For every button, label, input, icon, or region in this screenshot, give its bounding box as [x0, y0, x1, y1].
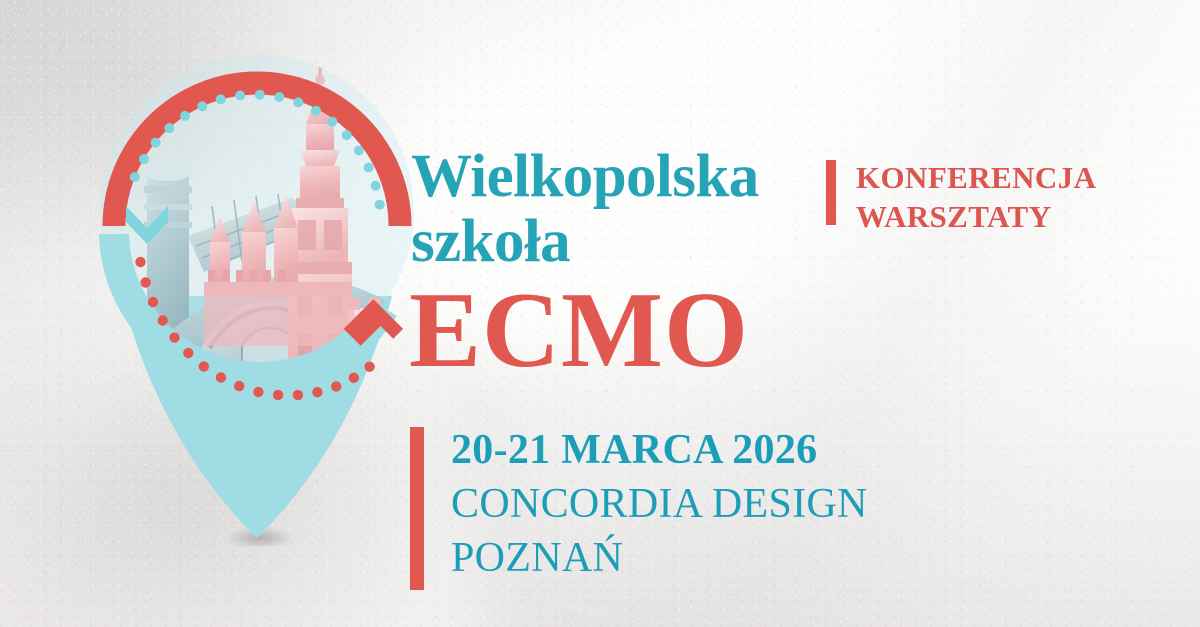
event-title: Wielkopolska szkoła — [411, 144, 811, 275]
conference-banner: Wielkopolska szkoła ECMO KONFERENCJA WAR… — [0, 0, 1200, 627]
event-acronym: ECMO — [409, 277, 749, 385]
event-city: POZNAŃ — [451, 532, 868, 586]
event-title-line-1: Wielkopolska — [411, 144, 811, 209]
event-type-line-1: KONFERENCJA — [856, 158, 1096, 197]
event-venue: CONCORDIA DESIGN — [451, 478, 868, 532]
details-accent-bar — [410, 427, 424, 590]
ecmo-location-pin-logo — [92, 46, 422, 546]
event-type-text: KONFERENCJA WARSZTATY — [856, 158, 1096, 237]
event-details-text: 20-21 MARCA 2026 CONCORDIA DESIGN POZNAŃ — [451, 424, 868, 585]
event-title-line-2: szkoła — [411, 209, 811, 274]
kicker-accent-bar — [826, 160, 836, 225]
event-details-block: 20-21 MARCA 2026 CONCORDIA DESIGN POZNAŃ — [410, 424, 868, 590]
event-date: 20-21 MARCA 2026 — [451, 424, 868, 478]
event-type-block: KONFERENCJA WARSZTATY — [826, 158, 1096, 237]
event-type-line-2: WARSZTATY — [856, 197, 1096, 236]
